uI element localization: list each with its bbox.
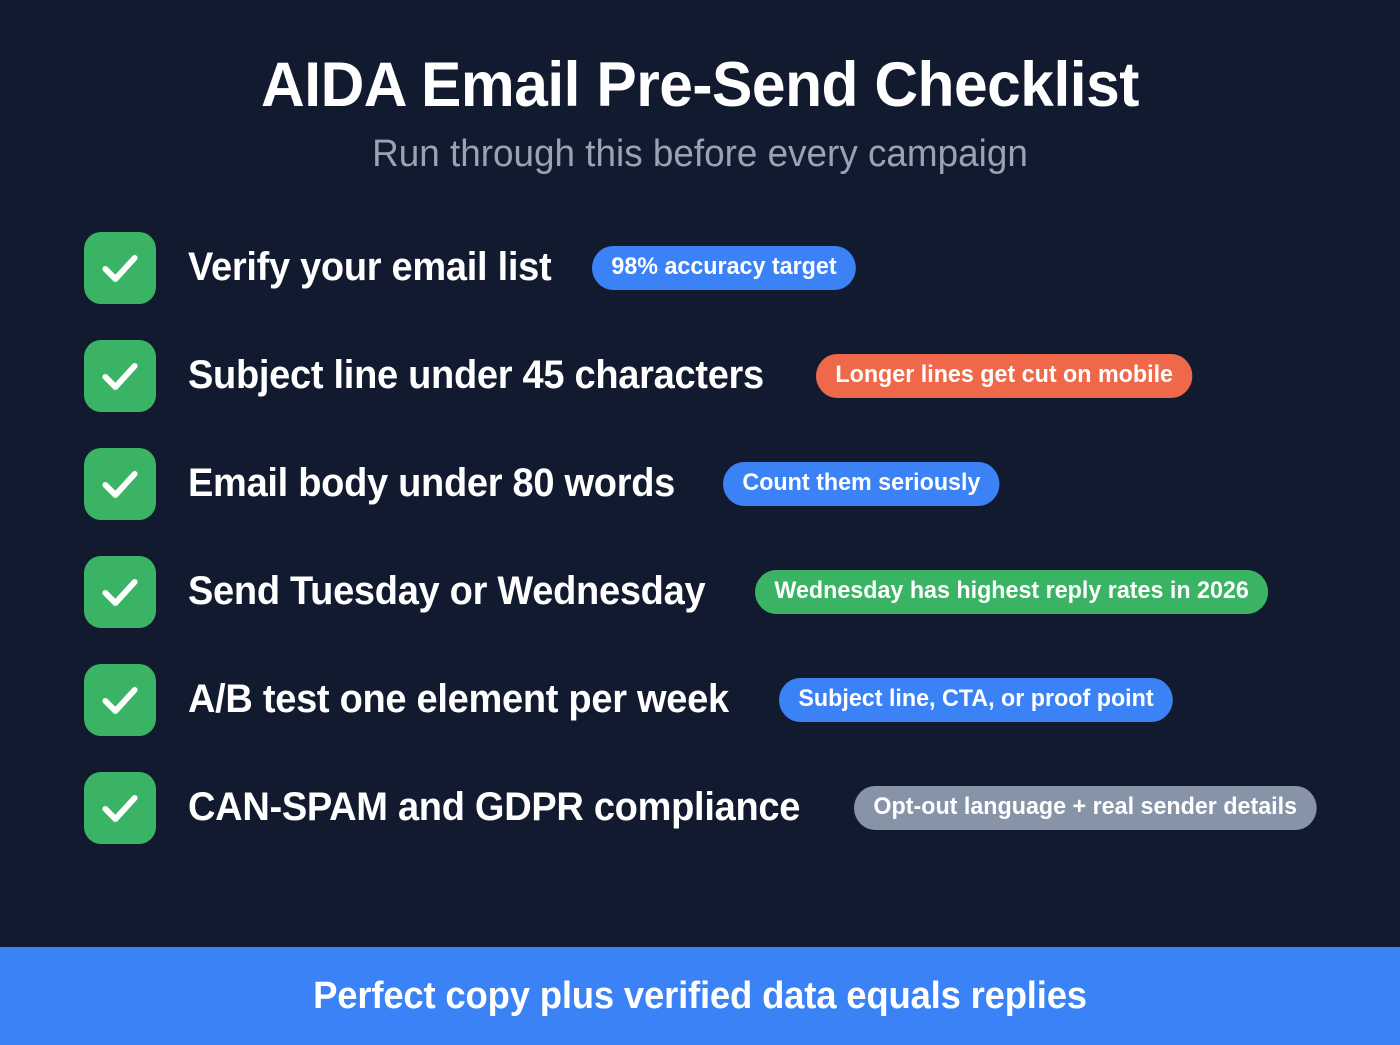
page-subtitle: Run through this before every campaign [21, 134, 1379, 176]
checklist-item[interactable]: Subject line under 45 characters Longer … [84, 340, 1360, 412]
check-icon [98, 462, 142, 506]
checklist-item[interactable]: CAN-SPAM and GDPR compliance Opt-out lan… [84, 772, 1360, 844]
checklist-item[interactable]: Verify your email list 98% accuracy targ… [84, 232, 1360, 304]
checkbox-checked[interactable] [84, 232, 156, 304]
page-title: AIDA Email Pre-Send Checklist [28, 52, 1372, 118]
checklist-poster: AIDA Email Pre-Send Checklist Run throug… [0, 0, 1400, 1045]
checkbox-checked[interactable] [84, 448, 156, 520]
checklist-item-label: Send Tuesday or Wednesday [188, 569, 705, 614]
checklist-item-label: Subject line under 45 characters [188, 353, 764, 398]
checklist-item-badge: Opt-out language + real sender details [854, 786, 1316, 830]
check-icon [98, 246, 142, 290]
check-icon [98, 678, 142, 722]
poster-header: AIDA Email Pre-Send Checklist Run throug… [0, 0, 1400, 176]
checklist: Verify your email list 98% accuracy targ… [0, 232, 1400, 1045]
checklist-item-badge: Longer lines get cut on mobile [816, 354, 1192, 398]
footer-banner: Perfect copy plus verified data equals r… [0, 947, 1400, 1045]
checkbox-checked[interactable] [84, 340, 156, 412]
checkbox-checked[interactable] [84, 772, 156, 844]
checklist-item-badge: 98% accuracy target [592, 246, 856, 290]
checklist-item-label: A/B test one element per week [188, 677, 729, 722]
checklist-item-label: Verify your email list [188, 245, 551, 290]
checklist-item-badge: Count them seriously [723, 462, 1000, 506]
checklist-item-badge: Wednesday has highest reply rates in 202… [755, 570, 1268, 614]
checklist-item-label: Email body under 80 words [188, 461, 675, 506]
checkbox-checked[interactable] [84, 664, 156, 736]
checklist-item[interactable]: A/B test one element per week Subject li… [84, 664, 1360, 736]
checkbox-checked[interactable] [84, 556, 156, 628]
check-icon [98, 570, 142, 614]
footer-banner-text: Perfect copy plus verified data equals r… [313, 975, 1087, 1018]
check-icon [98, 354, 142, 398]
checklist-item[interactable]: Send Tuesday or Wednesday Wednesday has … [84, 556, 1360, 628]
checklist-item-label: CAN-SPAM and GDPR compliance [188, 785, 800, 830]
checklist-item[interactable]: Email body under 80 words Count them ser… [84, 448, 1360, 520]
checklist-item-badge: Subject line, CTA, or proof point [779, 678, 1173, 722]
check-icon [98, 786, 142, 830]
